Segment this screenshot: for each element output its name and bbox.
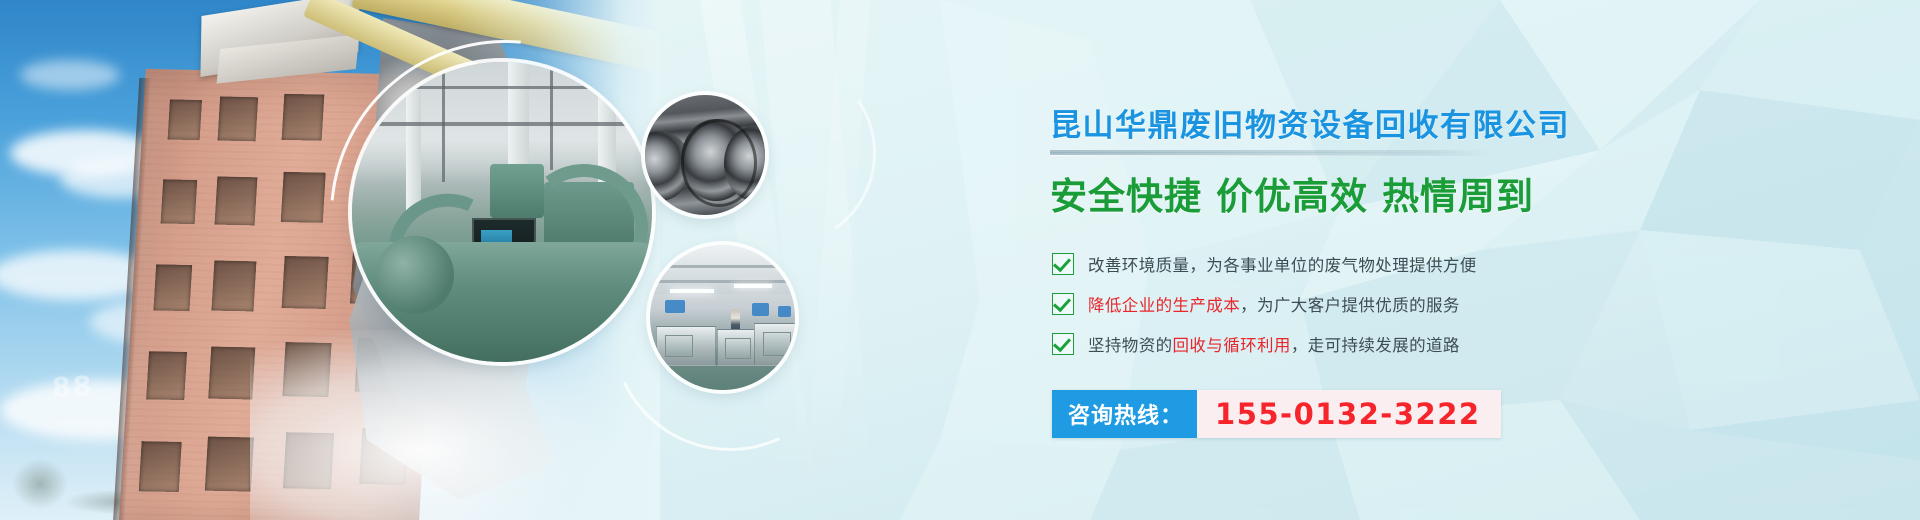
check-icon (1052, 333, 1074, 355)
hotline-bar[interactable]: 咨询热线： 155-0132-3222 (1052, 390, 1501, 438)
feature-text-highlight: 回收与循环利用 (1173, 337, 1291, 355)
title-divider (1050, 150, 1490, 156)
check-icon (1052, 253, 1074, 275)
list-item: 改善环境质量，为各事业单位的废气物处理提供方便 (1052, 244, 1477, 284)
feature-text-before: 改善环境质量，为各事业单位的废气物处理提供方便 (1088, 257, 1477, 275)
cloud (20, 60, 120, 90)
check-icon (1052, 293, 1074, 315)
company-name: 昆山华鼎废旧物资设备回收有限公司 (1050, 100, 1570, 145)
slogan: 安全快捷价优高效热情周到 (1050, 166, 1534, 220)
promo-banner: 88 (0, 0, 1920, 520)
watermark: 88 (51, 371, 94, 404)
feature-text-after: ，为广大客户提供优质的服务 (1240, 297, 1460, 315)
list-item: 降低企业的生产成本，为广大客户提供优质的服务 (1052, 284, 1477, 324)
feature-text: 改善环境质量，为各事业单位的废气物处理提供方便 (1088, 252, 1477, 276)
feature-text-after: ，走可持续发展的道路 (1291, 337, 1460, 355)
hotline-label: 咨询热线： (1052, 390, 1197, 438)
slogan-part-2: 价优高效 (1216, 176, 1368, 217)
slogan-part-3: 热情周到 (1382, 176, 1534, 217)
text-content: 昆山华鼎废旧物资设备回收有限公司 安全快捷价优高效热情周到 改善环境质量，为各事… (1050, 0, 1750, 520)
list-item: 坚持物资的回收与循环利用，走可持续发展的道路 (1052, 324, 1477, 364)
feature-list: 改善环境质量，为各事业单位的废气物处理提供方便 降低企业的生产成本，为广大客户提… (1052, 244, 1477, 364)
slogan-part-1: 安全快捷 (1050, 176, 1202, 217)
feature-text: 降低企业的生产成本，为广大客户提供优质的服务 (1088, 292, 1460, 316)
hotline-number[interactable]: 155-0132-3222 (1197, 390, 1501, 438)
feature-text: 坚持物资的回收与循环利用，走可持续发展的道路 (1088, 332, 1460, 356)
feature-text-before: 坚持物资的 (1088, 337, 1173, 355)
feature-text-highlight: 降低企业的生产成本 (1088, 297, 1240, 315)
